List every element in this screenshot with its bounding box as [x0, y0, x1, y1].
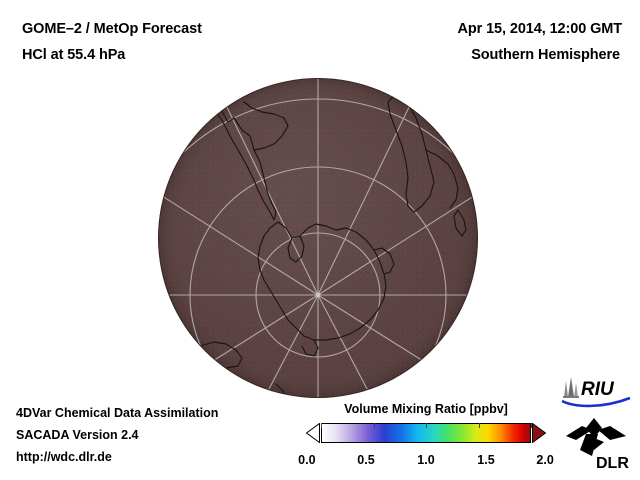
colorbar-tick-label: 1.5 [477, 453, 494, 467]
colorbar-tick [426, 423, 427, 428]
colorbar-tick [374, 423, 375, 428]
credit-line-version: SACADA Version 2.4 [16, 424, 296, 446]
credit-line-assimilation: 4DVar Chemical Data Assimilation [16, 402, 296, 424]
dlr-logo: DLR [558, 416, 634, 472]
forecast-datetime: Apr 15, 2014, 12:00 GMT [322, 16, 622, 42]
dlr-mark-icon [566, 418, 626, 456]
map-panel [0, 70, 640, 402]
colorbar-low-arrow-icon [306, 423, 320, 443]
colorbar-tick [479, 423, 480, 428]
colorbar-tick-labels: 0.00.51.01.52.0 [306, 453, 546, 471]
footer-credits: 4DVar Chemical Data Assimilation SACADA … [16, 402, 296, 468]
hemisphere-label: Southern Hemisphere [322, 42, 622, 68]
credit-line-url[interactable]: http://wdc.dlr.de [16, 446, 296, 468]
colorbar-tick-label: 0.0 [298, 453, 315, 467]
colorbar-title: Volume Mixing Ratio [ppbv] [306, 400, 546, 418]
polar-stereographic-globe [158, 78, 478, 398]
dlr-wordmark: DLR [596, 455, 629, 472]
colorbar-high-arrow-icon [532, 423, 546, 443]
riu-logo: RIU [558, 375, 634, 409]
riu-tower-icon [563, 377, 579, 398]
page-title: GOME–2 / MetOp Forecast [22, 16, 362, 42]
colorbar-tick-label: 0.5 [357, 453, 374, 467]
colorbar-tick-label: 1.0 [417, 453, 434, 467]
header-left: GOME–2 / MetOp Forecast HCl at 55.4 hPa [22, 16, 362, 68]
colorbar-tick [531, 423, 532, 428]
page-subtitle: HCl at 55.4 hPa [22, 42, 362, 68]
colorbar: Volume Mixing Ratio [ppbv] 0.00.51.01.52… [306, 400, 546, 471]
globe-data-fill [158, 78, 478, 398]
colorbar-tick-label: 2.0 [536, 453, 553, 467]
colorbar-ticks [321, 423, 531, 428]
coastline-overlay [158, 78, 478, 398]
header-right: Apr 15, 2014, 12:00 GMT Southern Hemisph… [322, 16, 622, 68]
riu-wordmark: RIU [581, 379, 615, 400]
colorbar-tick [321, 423, 322, 428]
